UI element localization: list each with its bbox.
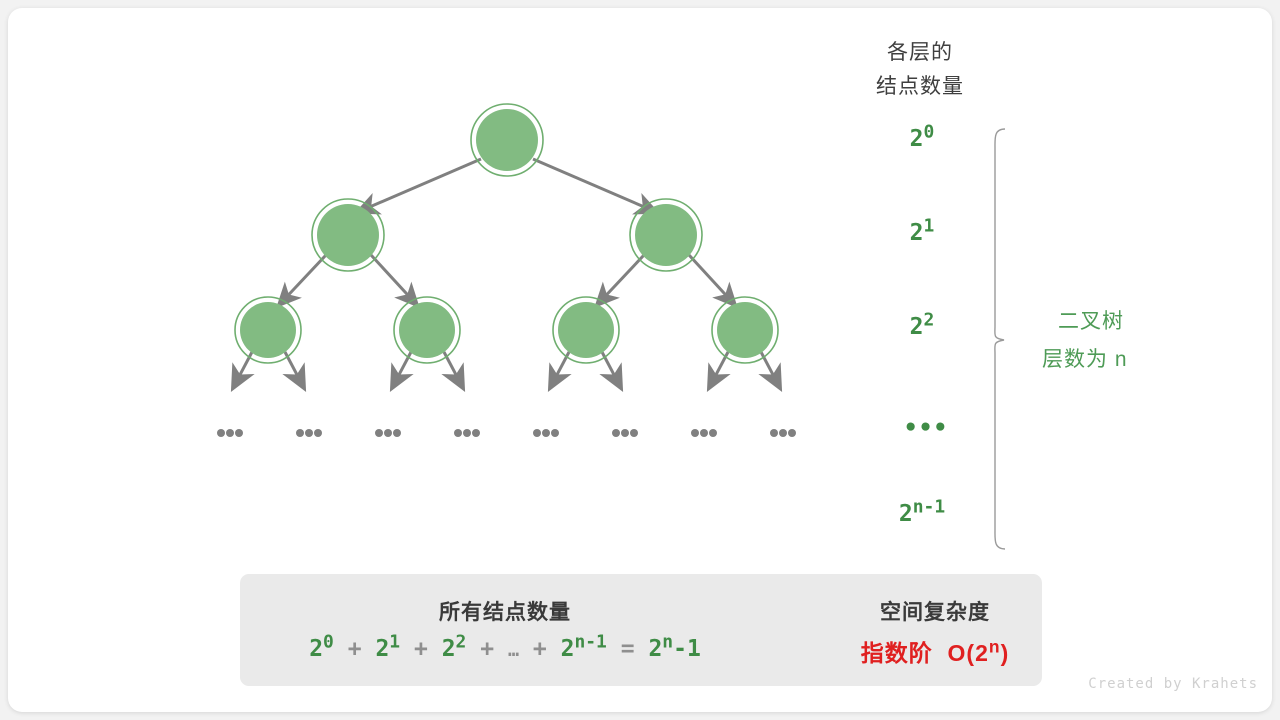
formula-term-last: 2n-1: [561, 636, 607, 662]
level-count-label-2: 22: [862, 314, 982, 340]
column-header-line1: 各层的: [820, 36, 1020, 66]
formula-plus-3: +: [533, 636, 547, 662]
level-count-label-1: 21: [862, 220, 982, 246]
tree-ellipsis: [691, 429, 717, 437]
formula-result: 2n-1: [648, 636, 700, 662]
level-count-label-ellipsis: •••: [866, 415, 986, 441]
tree-node-root: [471, 104, 543, 176]
level-count-exp-last: n-1: [913, 496, 945, 517]
level-count-base-1: 2: [910, 220, 924, 246]
tree-ellipsis: [612, 429, 638, 437]
column-header-line2: 结点数量: [820, 70, 1020, 100]
formula-plus-1: +: [414, 636, 428, 662]
tree-ellipsis: [533, 429, 559, 437]
formula-equals: =: [621, 636, 635, 662]
tree-ellipsis: [770, 429, 796, 437]
summary-left-title: 所有结点数量: [240, 596, 770, 626]
tree-node-l2-1: [394, 297, 460, 363]
screenshot-canvas: 各层的 结点数量 20 21 22 ••• 2n-1 二叉树 层数为 n 所有结…: [0, 0, 1280, 720]
tree-edges-level-2-leaf: [233, 352, 780, 388]
summary-panel: 所有结点数量 20 + 21 + 22 + … + 2n-1 = 2n-1 空间…: [240, 574, 1042, 686]
level-count-base-last: 2: [899, 501, 913, 527]
level-count-label-last: 2n-1: [862, 501, 982, 527]
complexity-notation: O(2n): [940, 640, 1009, 666]
formula-term-0: 20: [309, 636, 334, 662]
summary-right-result: 指数阶 O(2n): [828, 634, 1042, 668]
tree-ellipsis: [296, 429, 322, 437]
tree-node-l2-0: [235, 297, 301, 363]
watermark-credit: Created by Krahets: [1088, 676, 1258, 692]
tree-ellipsis-row: [217, 429, 796, 437]
brace-note-line2: 层数为 n: [1042, 343, 1252, 373]
tree-node-l2-2: [553, 297, 619, 363]
tree-ellipsis: [375, 429, 401, 437]
level-count-base-0: 2: [910, 126, 924, 152]
summary-formula: 20 + 21 + 22 + … + 2n-1 = 2n-1: [240, 636, 770, 662]
tree-node-l1-0: [312, 199, 384, 271]
tree-nodes: [235, 104, 778, 363]
brace-note-line1: 二叉树: [1058, 305, 1268, 335]
level-range-brace: [995, 129, 1005, 549]
formula-ellipsis: …: [508, 640, 519, 661]
level-count-exp-2: 2: [924, 309, 935, 330]
formula-plus-2: +: [480, 636, 494, 662]
level-count-exp-0: 0: [924, 121, 935, 142]
level-count-exp-1: 1: [924, 215, 935, 236]
level-count-base-2: 2: [910, 314, 924, 340]
formula-term-2: 22: [442, 636, 467, 662]
level-count-label-0: 20: [862, 126, 982, 152]
summary-right-title: 空间复杂度: [828, 596, 1042, 626]
formula-term-1: 21: [375, 636, 400, 662]
tree-node-l2-3: [712, 297, 778, 363]
tree-node-l1-1: [630, 199, 702, 271]
tree-ellipsis: [217, 429, 243, 437]
formula-plus-0: +: [348, 636, 362, 662]
complexity-label: 指数阶: [861, 640, 933, 666]
tree-ellipsis: [454, 429, 480, 437]
